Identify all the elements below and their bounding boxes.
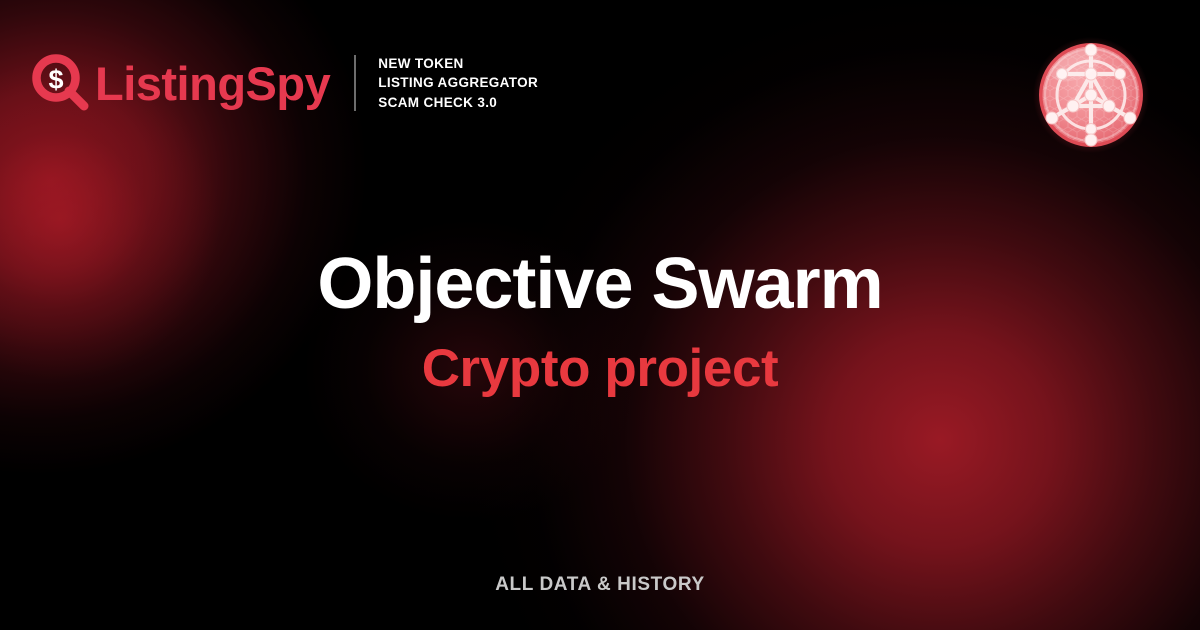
page-title-block: Objective Swarm Crypto project <box>0 248 1200 395</box>
brand-tagline-line-2: LISTING AGGREGATOR <box>378 73 538 92</box>
page-subtitle: Crypto project <box>0 342 1200 395</box>
page-title: Objective Swarm <box>0 248 1200 320</box>
og-card-root: $ ListingSpy NEW TOKEN LISTING AGGREGATO… <box>0 0 1200 630</box>
magnifier-dollar-icon: $ <box>32 54 90 112</box>
brand-wordmark-spy: Spy <box>246 57 331 110</box>
brand-tagline-line-1: NEW TOKEN <box>378 54 538 73</box>
brand-tagline-line-3: SCAM CHECK 3.0 <box>378 93 538 112</box>
brand-tagline: NEW TOKEN LISTING AGGREGATOR SCAM CHECK … <box>378 54 538 111</box>
svg-text:$: $ <box>48 65 63 95</box>
brand-divider <box>354 55 356 111</box>
swarm-network-coin-icon <box>1032 36 1150 154</box>
brand-header[interactable]: $ ListingSpy NEW TOKEN LISTING AGGREGATO… <box>32 54 538 112</box>
footer-note: ALL DATA & HISTORY <box>0 574 1200 596</box>
brand-wordmark-listing: Listing <box>95 57 246 110</box>
brand-wordmark: ListingSpy <box>95 60 330 107</box>
